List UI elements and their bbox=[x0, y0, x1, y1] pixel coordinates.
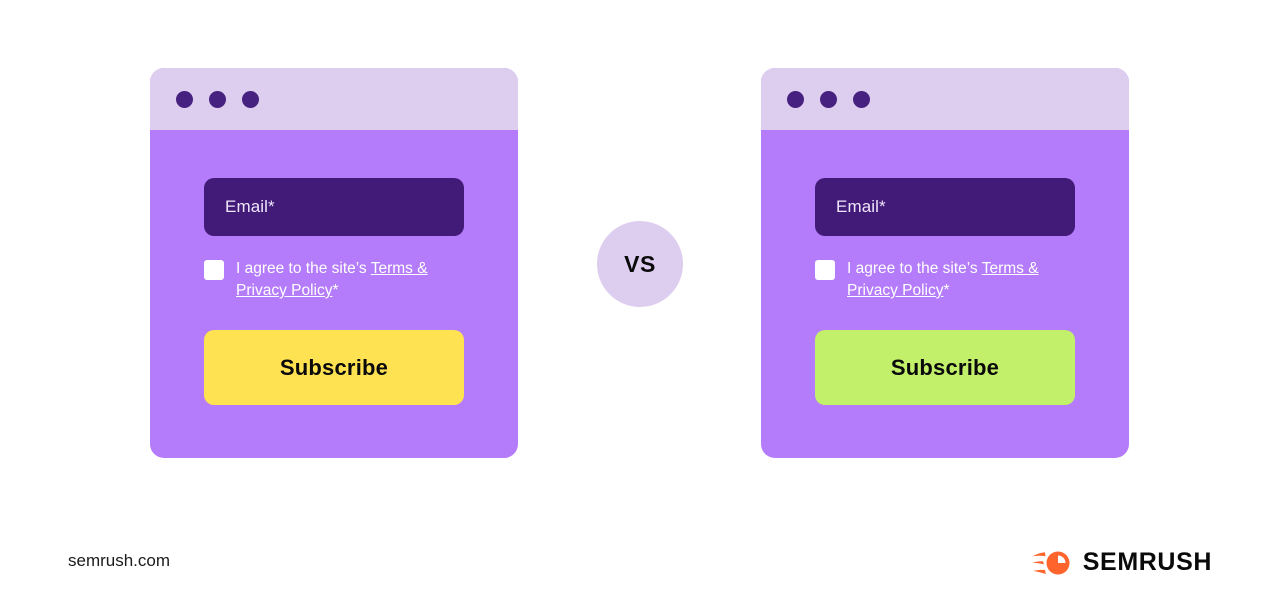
window-dot-icon bbox=[176, 91, 193, 108]
semrush-logo: SEMRUSH bbox=[1032, 548, 1212, 577]
semrush-comet-icon bbox=[1032, 549, 1072, 577]
comparison-graphic: Email* I agree to the site’s Terms & Pri… bbox=[0, 0, 1280, 597]
terms-label: I agree to the site’s Terms & Privacy Po… bbox=[236, 258, 432, 302]
terms-prefix: I agree to the site’s bbox=[236, 260, 371, 277]
window-dot-icon bbox=[242, 91, 259, 108]
semrush-wordmark: SEMRUSH bbox=[1083, 548, 1212, 577]
footer-url: semrush.com bbox=[68, 551, 170, 571]
vs-badge: VS bbox=[597, 221, 683, 307]
terms-consent-row: I agree to the site’s Terms & Privacy Po… bbox=[204, 258, 464, 302]
form-card-left: Email* I agree to the site’s Terms & Pri… bbox=[150, 68, 518, 458]
terms-label: I agree to the site’s Terms & Privacy Po… bbox=[847, 258, 1043, 302]
terms-prefix: I agree to the site’s bbox=[847, 260, 982, 277]
browser-titlebar bbox=[761, 68, 1129, 130]
terms-checkbox[interactable] bbox=[815, 260, 835, 280]
terms-required-asterisk: * bbox=[332, 282, 338, 299]
browser-titlebar bbox=[150, 68, 518, 130]
form-body: Email* I agree to the site’s Terms & Pri… bbox=[150, 130, 518, 405]
email-field[interactable]: Email* bbox=[204, 178, 464, 236]
window-dot-icon bbox=[853, 91, 870, 108]
form-body: Email* I agree to the site’s Terms & Pri… bbox=[761, 130, 1129, 405]
terms-consent-row: I agree to the site’s Terms & Privacy Po… bbox=[815, 258, 1075, 302]
form-card-right: Email* I agree to the site’s Terms & Pri… bbox=[761, 68, 1129, 458]
email-placeholder: Email* bbox=[836, 197, 886, 217]
subscribe-button[interactable]: Subscribe bbox=[815, 330, 1075, 405]
window-dot-icon bbox=[820, 91, 837, 108]
email-placeholder: Email* bbox=[225, 197, 275, 217]
window-dot-icon bbox=[787, 91, 804, 108]
email-field[interactable]: Email* bbox=[815, 178, 1075, 236]
terms-required-asterisk: * bbox=[943, 282, 949, 299]
window-dot-icon bbox=[209, 91, 226, 108]
terms-checkbox[interactable] bbox=[204, 260, 224, 280]
subscribe-button[interactable]: Subscribe bbox=[204, 330, 464, 405]
